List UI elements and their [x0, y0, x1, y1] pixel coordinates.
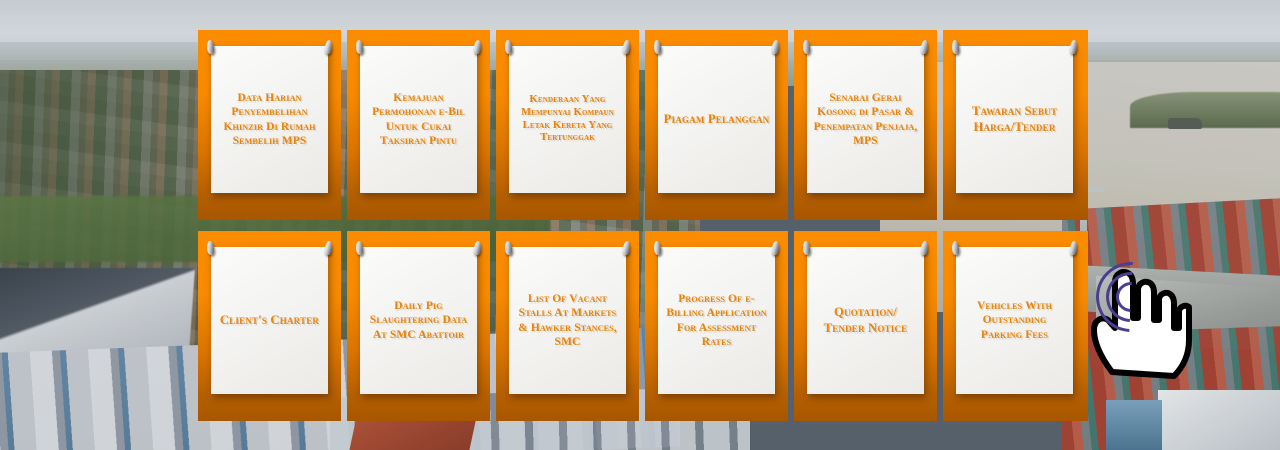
card-title: Kemajuan Permohonan e-Bil Untuk Cukai Ta…	[365, 91, 472, 148]
card-vehicles-outstanding-fees[interactable]: Vehicles With Outstanding Parking Fees	[956, 247, 1073, 394]
card-title: List Of Vacant Stalls At Markets & Hawke…	[514, 292, 621, 349]
card-title: Senarai Gerai Kosong di Pasar & Penempat…	[812, 91, 919, 148]
pin-icon	[355, 241, 363, 256]
card-title: Quotation/ Tender Notice	[812, 305, 919, 337]
card-title: Data Harian Penyembelihan Khinzir Di Rum…	[216, 91, 323, 148]
card-list-of-vacant-stalls[interactable]: List Of Vacant Stalls At Markets & Hawke…	[509, 247, 626, 394]
pin-icon	[653, 241, 661, 256]
pin-icon	[504, 40, 512, 55]
card-progress-of-e-billing[interactable]: Progress Of e-Billing Application For As…	[658, 247, 775, 394]
card-data-harian-penyembelihan[interactable]: Data Harian Penyembelihan Khinzir Di Rum…	[211, 46, 328, 193]
pin-icon	[771, 40, 779, 55]
card-panel-list-of-vacant-stalls[interactable]: List Of Vacant Stalls At Markets & Hawke…	[496, 231, 639, 421]
card-piagam-pelanggan[interactable]: Piagam Pelanggan	[658, 46, 775, 193]
card-panel-kemajuan-permohonan-e-bil[interactable]: Kemajuan Permohonan e-Bil Untuk Cukai Ta…	[347, 30, 490, 220]
card-kemajuan-permohonan-e-bil[interactable]: Kemajuan Permohonan e-Bil Untuk Cukai Ta…	[360, 46, 477, 193]
pin-icon	[206, 241, 214, 256]
pin-icon	[324, 241, 332, 256]
pin-icon	[653, 40, 661, 55]
pin-icon	[802, 241, 810, 256]
card-panel-daily-pig-slaughtering[interactable]: Daily Pig Slaughtering Data At SMC Abatt…	[347, 231, 490, 421]
card-quotation-tender-notice[interactable]: Quotation/ Tender Notice	[807, 247, 924, 394]
card-title: Progress Of e-Billing Application For As…	[663, 292, 770, 349]
pin-icon	[622, 241, 630, 256]
card-tawaran-sebut-harga-tender[interactable]: Tawaran Sebut Harga/Tender	[956, 46, 1073, 193]
card-panel-vehicles-outstanding-fees[interactable]: Vehicles With Outstanding Parking Fees	[943, 231, 1088, 421]
quick-links-grid: Data Harian Penyembelihan Khinzir Di Rum…	[198, 30, 1080, 422]
card-title: Kenderaan Yang Mempunyai Kompaun Letak K…	[514, 94, 621, 146]
card-senarai-gerai-kosong[interactable]: Senarai Gerai Kosong di Pasar & Penempat…	[807, 46, 924, 193]
card-title: Daily Pig Slaughtering Data At SMC Abatt…	[365, 299, 472, 341]
card-title: Tawaran Sebut Harga/Tender	[961, 104, 1068, 136]
card-row-1: Data Harian Penyembelihan Khinzir Di Rum…	[198, 30, 1080, 220]
card-kenderaan-kompaun-letak[interactable]: Kenderaan Yang Mempunyai Kompaun Letak K…	[509, 46, 626, 193]
card-panel-tawaran-sebut-harga-tender[interactable]: Tawaran Sebut Harga/Tender	[943, 30, 1088, 220]
card-row-2: Client's CharterDaily Pig Slaughtering D…	[198, 231, 1080, 421]
mouse-cursor	[1082, 256, 1192, 384]
pin-icon	[355, 40, 363, 55]
pin-icon	[920, 40, 928, 55]
pin-icon	[920, 241, 928, 256]
pin-icon	[473, 40, 481, 55]
pin-icon	[1069, 40, 1077, 55]
pin-icon	[951, 40, 959, 55]
card-panel-data-harian-penyembelihan[interactable]: Data Harian Penyembelihan Khinzir Di Rum…	[198, 30, 341, 220]
pin-icon	[802, 40, 810, 55]
card-panel-progress-of-e-billing[interactable]: Progress Of e-Billing Application For As…	[645, 231, 788, 421]
card-title: Vehicles With Outstanding Parking Fees	[961, 299, 1068, 341]
card-panel-quotation-tender-notice[interactable]: Quotation/ Tender Notice	[794, 231, 937, 421]
card-panel-senarai-gerai-kosong[interactable]: Senarai Gerai Kosong di Pasar & Penempat…	[794, 30, 937, 220]
pin-icon	[951, 241, 959, 256]
pin-icon	[1069, 241, 1077, 256]
card-panel-clients-charter[interactable]: Client's Charter	[198, 231, 341, 421]
pin-icon	[504, 241, 512, 256]
card-panel-piagam-pelanggan[interactable]: Piagam Pelanggan	[645, 30, 788, 220]
card-title: Piagam Pelanggan	[664, 112, 770, 128]
pin-icon	[206, 40, 214, 55]
pin-icon	[324, 40, 332, 55]
card-daily-pig-slaughtering[interactable]: Daily Pig Slaughtering Data At SMC Abatt…	[360, 247, 477, 394]
card-panel-kenderaan-kompaun-letak[interactable]: Kenderaan Yang Mempunyai Kompaun Letak K…	[496, 30, 639, 220]
pin-icon	[771, 241, 779, 256]
pin-icon	[622, 40, 630, 55]
card-clients-charter[interactable]: Client's Charter	[211, 247, 328, 394]
pin-icon	[473, 241, 481, 256]
card-title: Client's Charter	[220, 313, 319, 329]
